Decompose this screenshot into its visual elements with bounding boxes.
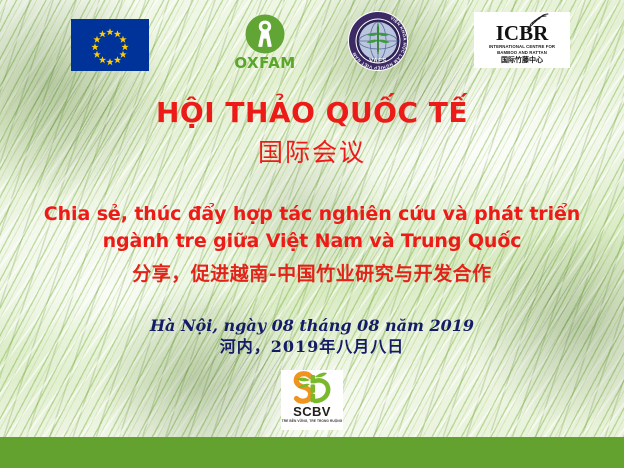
subtitle-chinese: 分享，促进越南-中国竹业研究与开发合作	[0, 262, 624, 286]
subtitle-vietnamese-line1: Chia sẻ, thúc đẩy hợp tác nghiên cứu và …	[22, 201, 602, 228]
subtitle-vietnamese: Chia sẻ, thúc đẩy hợp tác nghiên cứu và …	[22, 201, 602, 255]
main-title-chinese: 国际会议	[0, 138, 624, 168]
event-date-vietnamese: Hà Nội, ngày 08 tháng 08 năm 2019	[0, 316, 624, 336]
scbv-wordmark: SCBV	[281, 405, 343, 418]
presentation-slide: OXFAM	[0, 0, 624, 468]
scbv-tagline: TRE BỀN VỮNG, TRE TRONG RUỘNG	[281, 419, 343, 423]
main-title-vietnamese: HỘI THẢO QUỐC TẾ	[0, 96, 624, 130]
subtitle-vietnamese-line2: ngành tre giữa Việt Nam và Trung Quốc	[22, 228, 602, 255]
event-date-chinese: 河内，2019年八月八日	[0, 336, 624, 358]
scbv-logo: SCBV TRE BỀN VỮNG, TRE TRONG RUỘNG	[281, 370, 343, 430]
scbv-bamboo-mark-icon	[289, 371, 335, 405]
